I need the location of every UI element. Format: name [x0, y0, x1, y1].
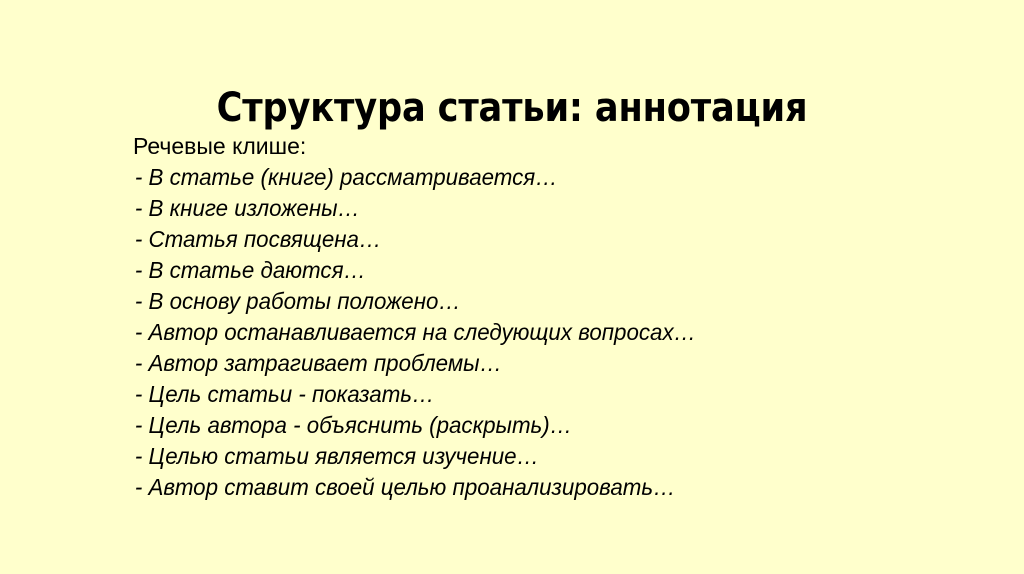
list-item: - В книге изложены… — [133, 193, 836, 224]
slide-body: Речевые клише: - В статье (книге) рассма… — [133, 131, 873, 503]
list-item: - В статье даются… — [133, 255, 836, 286]
list-item: - Статья посвящена… — [133, 224, 836, 255]
slide-canvas: Структура статьи: аннотация Речевые клиш… — [0, 0, 1024, 574]
list-item: - Автор останавливается на следующих воп… — [133, 317, 836, 348]
list-item: - Цель автора - объяснить (раскрыть)… — [133, 410, 836, 441]
list-item: - Автор затрагивает проблемы… — [133, 348, 836, 379]
list-item: - Автор ставит своей целью проанализиров… — [133, 472, 836, 503]
list-item: - Цель статьи - показать… — [133, 379, 836, 410]
list-item: - Целью статьи является изучение… — [133, 441, 836, 472]
speech-cliches-list: - В статье (книге) рассматривается… - В … — [133, 162, 873, 503]
slide-title: Структура статьи: аннотация — [61, 85, 962, 131]
list-item: - В основу работы положено… — [133, 286, 836, 317]
speech-cliches-heading: Речевые клише: — [133, 131, 873, 162]
list-item: - В статье (книге) рассматривается… — [133, 162, 836, 193]
